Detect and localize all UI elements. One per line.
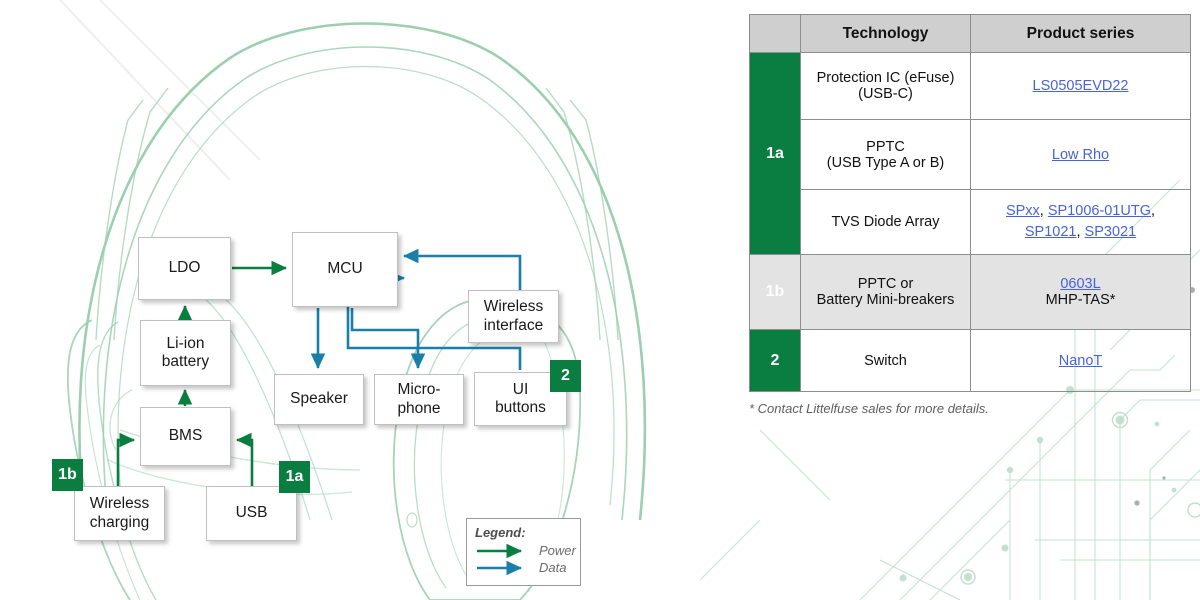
node-speaker-label: Speaker	[290, 390, 348, 408]
node-wireless-charging-label-line1: Wireless	[90, 495, 149, 513]
table-header-badge	[750, 15, 801, 53]
technology-cell: PPTC (USB Type A or B)	[801, 120, 971, 190]
table-footnote: * Contact Littelfuse sales for more deta…	[749, 401, 989, 416]
node-li-ion-battery-label-line1: Li-ion	[167, 335, 205, 353]
table-row: TVS Diode Array SPxx, SP1006-01UTG, SP10…	[750, 190, 1191, 255]
arrow-mcu-to-microphone	[352, 308, 418, 368]
technology-line: Protection IC (eFuse)	[807, 70, 964, 86]
table-row: 1a Protection IC (eFuse) (USB-C) LS0505E…	[750, 53, 1191, 120]
node-microphone-label-line2: phone	[397, 400, 440, 418]
badge-1b-label: 1b	[58, 466, 77, 484]
badge-1a-label: 1a	[286, 468, 304, 486]
legend: Legend: Power	[466, 518, 581, 586]
technology-line: (USB-C)	[807, 86, 964, 102]
data-arrow-icon	[475, 561, 533, 575]
arrow-usb-to-bms	[237, 440, 252, 487]
badge-2-label: 2	[561, 367, 570, 385]
node-mcu[interactable]: MCU	[292, 232, 398, 307]
product-link[interactable]: SP3021	[1085, 224, 1137, 240]
badge-cell-1a: 1a	[750, 53, 801, 255]
product-text: MHP-TAS*	[977, 292, 1184, 308]
product-link[interactable]: LS0505EVD22	[1033, 78, 1129, 94]
technology-line: PPTC	[807, 139, 964, 155]
technology-cell: Switch	[801, 330, 971, 392]
table-row: 1b PPTC or Battery Mini-breakers 0603L M…	[750, 255, 1191, 330]
technology-line: Switch	[807, 353, 964, 369]
product-table-container: Technology Product series 1a Protection …	[749, 14, 1190, 392]
badge-2[interactable]: 2	[550, 360, 581, 392]
product-link[interactable]: SP1021	[1025, 224, 1077, 240]
node-wireless-charging[interactable]: Wireless charging	[74, 486, 165, 541]
arrow-wireless-charging-to-bms	[118, 440, 134, 487]
table-header-technology: Technology	[801, 15, 971, 53]
separator: ,	[1076, 224, 1084, 240]
table-row: 2 Switch NanoT	[750, 330, 1191, 392]
badge-cell-2: 2	[750, 330, 801, 392]
node-wireless-interface-label-line2: interface	[484, 317, 543, 335]
node-li-ion-battery[interactable]: Li-ion battery	[140, 320, 231, 386]
product-cell: LS0505EVD22	[971, 53, 1191, 120]
technology-cell: PPTC or Battery Mini-breakers	[801, 255, 971, 330]
block-diagram: LDO Li-ion battery BMS Wireless charging…	[0, 0, 740, 600]
page-root: LDO Li-ion battery BMS Wireless charging…	[0, 0, 1200, 600]
separator: ,	[1040, 203, 1048, 219]
node-ldo-label: LDO	[169, 259, 201, 277]
technology-cell: TVS Diode Array	[801, 190, 971, 255]
node-microphone[interactable]: Micro- phone	[374, 374, 464, 425]
technology-line: PPTC or	[807, 276, 964, 292]
technology-line: Battery Mini-breakers	[807, 292, 964, 308]
legend-item-data: Data	[475, 559, 580, 576]
table-header-product-series: Product series	[971, 15, 1191, 53]
node-ldo[interactable]: LDO	[138, 237, 231, 300]
node-mcu-label: MCU	[327, 260, 362, 278]
node-wireless-charging-label-line2: charging	[90, 514, 149, 532]
legend-item-power: Power	[475, 542, 580, 559]
technology-cell: Protection IC (eFuse) (USB-C)	[801, 53, 971, 120]
product-link[interactable]: 0603L	[1060, 276, 1100, 292]
node-usb-label: USB	[236, 504, 268, 522]
product-link[interactable]: Low Rho	[1052, 147, 1109, 163]
product-cell: NanoT	[971, 330, 1191, 392]
product-table: Technology Product series 1a Protection …	[749, 14, 1191, 392]
product-link[interactable]: SPxx	[1006, 203, 1040, 219]
node-bms[interactable]: BMS	[140, 407, 231, 466]
separator: ,	[1151, 203, 1155, 219]
node-speaker[interactable]: Speaker	[274, 374, 364, 425]
product-link[interactable]: SP1006-01UTG	[1048, 203, 1151, 219]
node-bms-label: BMS	[169, 427, 203, 445]
node-ui-buttons-label-line1: UI	[513, 381, 529, 399]
node-li-ion-battery-label-line2: battery	[162, 353, 209, 371]
technology-line: (USB Type A or B)	[807, 155, 964, 171]
table-header-row: Technology Product series	[750, 15, 1191, 53]
product-cell: Low Rho	[971, 120, 1191, 190]
power-arrow-icon	[475, 544, 533, 558]
badge-1a[interactable]: 1a	[279, 461, 310, 493]
legend-label-data: Data	[539, 560, 566, 575]
legend-label-power: Power	[539, 543, 576, 558]
node-wireless-interface[interactable]: Wireless interface	[468, 290, 559, 343]
node-ui-buttons-label-line2: buttons	[495, 399, 546, 417]
product-cell: SPxx, SP1006-01UTG, SP1021, SP3021	[971, 190, 1191, 255]
legend-title: Legend:	[475, 525, 580, 540]
node-microphone-label-line1: Micro-	[397, 381, 440, 399]
table-row: PPTC (USB Type A or B) Low Rho	[750, 120, 1191, 190]
technology-line: TVS Diode Array	[807, 214, 964, 230]
product-cell: 0603L MHP-TAS*	[971, 255, 1191, 330]
arrow-wireless-interface-to-mcu	[404, 256, 520, 290]
badge-1b[interactable]: 1b	[52, 459, 83, 491]
product-link[interactable]: NanoT	[1059, 353, 1103, 369]
badge-cell-1b: 1b	[750, 255, 801, 330]
node-usb[interactable]: USB	[206, 486, 297, 541]
node-wireless-interface-label-line1: Wireless	[484, 298, 543, 316]
